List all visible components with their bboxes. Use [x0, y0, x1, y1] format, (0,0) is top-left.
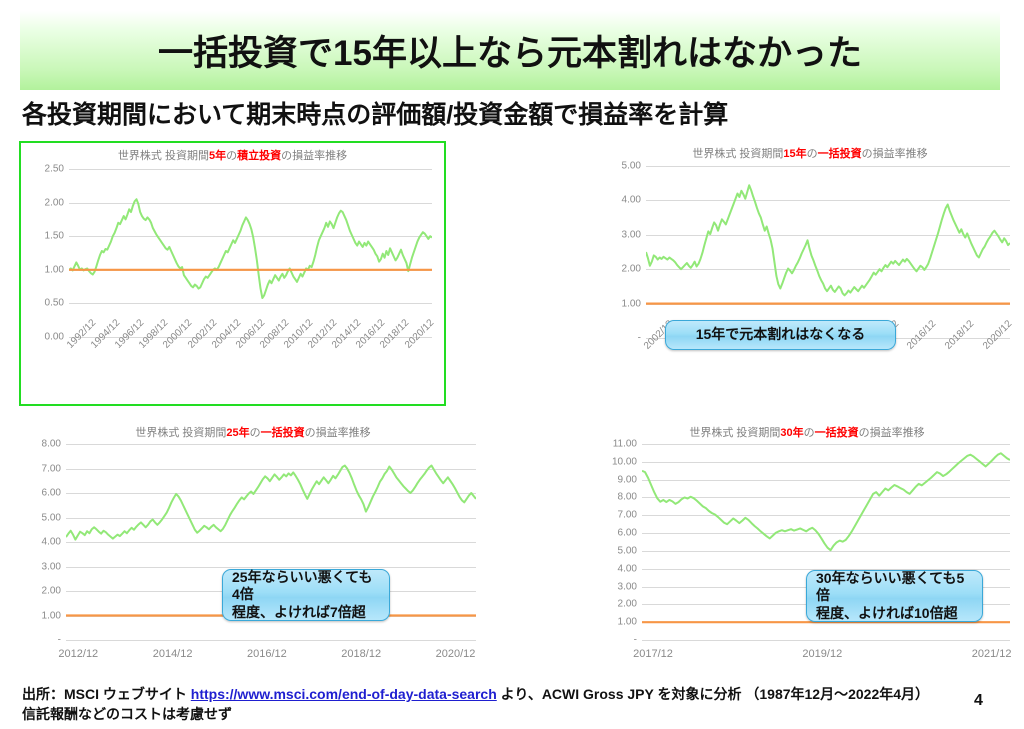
callout-30year: 30年ならいい悪くても5倍 程度、よければ10倍超 [806, 570, 983, 622]
chart4-ytick-label: 9.00 [618, 474, 637, 485]
chart4-xtick-label: 2017/12 [633, 648, 673, 660]
chart1-ytick-label: 2.50 [45, 164, 64, 175]
callout-15year: 15年で元本割れはなくなる [665, 320, 896, 350]
chart1-series-svg [69, 169, 432, 337]
chart4-ytick-label: 3.00 [618, 581, 637, 592]
chart2-series-svg [646, 166, 1010, 338]
chart4-ytick-label: 1.00 [618, 617, 637, 628]
chart1-ytick-label: 1.00 [45, 264, 64, 275]
page-title: 一括投資で15年以上なら元本割れはなかった [158, 25, 862, 76]
chart4-title-part-1: 30年 [780, 427, 803, 439]
chart3-title-part-2: の [250, 427, 261, 439]
chart1-title-part-4: の損益率推移 [281, 150, 347, 162]
chart2-data-line [646, 185, 1010, 295]
chart3-xtick-label: 2016/12 [247, 648, 287, 660]
chart4-ytick-label: 7.00 [618, 510, 637, 521]
slide-subtitle: 各投資期間において期末時点の評価額/投資金額で損益率を計算 [22, 95, 728, 131]
chart1-title: 世界株式 投資期間5年の積立投資の損益率推移 [21, 147, 444, 163]
chart4-ytick-label: 11.00 [613, 439, 637, 450]
chart4-ytick-label: 5.00 [618, 545, 637, 556]
callout-30year-text: 30年ならいい悪くても5倍 程度、よければ10倍超 [816, 570, 973, 623]
chart3-ytick-label: 8.00 [42, 439, 61, 450]
chart4-title-part-0: 世界株式 投資期間 [689, 427, 780, 439]
chart1-ytick-label: 0.50 [45, 298, 64, 309]
chart-card-30year-ikkatsu: 世界株式 投資期間30年の一括投資の損益率推移-1.002.003.004.00… [592, 422, 1022, 672]
chart2-title-part-2: の [807, 148, 818, 160]
chart4-xtick-label: 2021/12 [972, 648, 1012, 660]
chart2-xaxis-labels: 2002/122004/122006/122008/122010/122012/… [600, 342, 1020, 402]
chart1-title-part-1: 5年 [209, 150, 226, 162]
chart3-ytick-label: 2.00 [42, 586, 61, 597]
chart2-ytick-label: 1.00 [622, 298, 641, 309]
chart4-xtick-label: 2019/12 [802, 648, 842, 660]
chart3-data-line [66, 466, 476, 540]
chart4-data-line [642, 453, 1010, 550]
chart2-title-part-3: 一括投資 [818, 148, 862, 160]
chart4-ytick-label: 6.00 [618, 528, 637, 539]
slide-title-banner: 一括投資で15年以上なら元本割れはなかった [20, 11, 1000, 90]
chart-card-15year-ikkatsu: 世界株式 投資期間15年の一括投資の損益率推移-1.002.003.004.00… [600, 142, 1020, 397]
footer-line1-post: より、ACWI Gross JPY を対象に分析 （1987年12月～2022年… [497, 686, 929, 702]
footer-line-2: 信託報酬などのコストは考慮せず [22, 704, 962, 724]
chart3-ytick-label: 3.00 [42, 561, 61, 572]
chart2-title-part-1: 15年 [783, 148, 806, 160]
footer-line-1: 出所：MSCI ウェブサイト https://www.msci.com/end-… [22, 684, 962, 704]
chart1-ytick-label: 1.50 [45, 231, 64, 242]
chart1-title-part-3: 積立投資 [237, 150, 281, 162]
callout-30year-line2: 程度、よければ10倍超 [816, 605, 958, 621]
chart2-ytick-label: 4.00 [622, 195, 641, 206]
chart3-ytick-label: 4.00 [42, 537, 61, 548]
chart4-title-part-3: 一括投資 [815, 427, 859, 439]
chart4-ytick-label: 4.00 [618, 563, 637, 574]
callout-25year-text: 25年ならいい悪くても4倍 程度、よければ7倍超 [232, 569, 380, 622]
footer-line1-pre: 出所：MSCI ウェブサイト [22, 686, 191, 702]
callout-25year-line1: 25年ならいい悪くても4倍 [232, 569, 372, 603]
chart4-title: 世界株式 投資期間30年の一括投資の損益率推移 [592, 424, 1022, 440]
page-number: 4 [974, 692, 983, 710]
chart2-title: 世界株式 投資期間15年の一括投資の損益率推移 [600, 145, 1020, 161]
chart3-xtick-label: 2020/12 [436, 648, 476, 660]
chart3-title-part-0: 世界株式 投資期間 [135, 427, 226, 439]
callout-15year-text: 15年で元本割れはなくなる [696, 326, 866, 344]
footer-source-note: 出所：MSCI ウェブサイト https://www.msci.com/end-… [22, 684, 962, 725]
chart1-title-part-0: 世界株式 投資期間 [118, 150, 209, 162]
chart2-plot-area: -1.002.003.004.005.00 [600, 166, 1020, 338]
chart3-xtick-label: 2018/12 [341, 648, 381, 660]
chart1-plot-area: 0.000.501.001.502.002.50 [21, 169, 444, 337]
callout-30year-line1: 30年ならいい悪くても5倍 [816, 570, 964, 604]
chart4-title-part-4: の損益率推移 [859, 427, 925, 439]
chart3-title-part-4: の損益率推移 [305, 427, 371, 439]
chart2-ytick-label: 5.00 [622, 161, 641, 172]
chart2-title-part-4: の損益率推移 [862, 148, 928, 160]
chart3-ytick-label: 1.00 [42, 610, 61, 621]
chart4-title-part-2: の [804, 427, 815, 439]
chart4-gridline [642, 640, 1010, 641]
chart3-ytick-label: 6.00 [42, 488, 61, 499]
chart-card-25year-ikkatsu: 世界株式 投資期間25年の一括投資の損益率推移-1.002.003.004.00… [18, 422, 488, 672]
chart-card-5year-tsumitate: 世界株式 投資期間5年の積立投資の損益率推移0.000.501.001.502.… [19, 141, 446, 406]
chart1-xaxis-labels: 1992/121994/121996/121998/122000/122002/… [21, 341, 444, 401]
chart1-ytick-label: 2.00 [45, 197, 64, 208]
chart3-title-part-3: 一括投資 [261, 427, 305, 439]
chart3-title: 世界株式 投資期間25年の一括投資の損益率推移 [18, 424, 488, 440]
chart2-title-part-0: 世界株式 投資期間 [692, 148, 783, 160]
msci-source-link[interactable]: https://www.msci.com/end-of-day-data-sea… [191, 686, 497, 702]
chart3-ytick-label: 5.00 [42, 512, 61, 523]
chart3-ytick-label: 7.00 [42, 463, 61, 474]
chart3-title-part-1: 25年 [226, 427, 249, 439]
chart2-ytick-label: 2.00 [622, 264, 641, 275]
chart3-xtick-label: 2014/12 [153, 648, 193, 660]
chart1-data-line [69, 199, 432, 298]
callout-25year-line2: 程度、よければ7倍超 [232, 604, 366, 620]
callout-25year: 25年ならいい悪くても4倍 程度、よければ7倍超 [222, 569, 390, 621]
chart3-gridline [66, 640, 476, 641]
chart3-xtick-label: 2012/12 [58, 648, 98, 660]
chart4-ytick-label: 8.00 [618, 492, 637, 503]
chart2-ytick-label: 3.00 [622, 229, 641, 240]
chart1-title-part-2: の [226, 150, 237, 162]
chart4-ytick-label: 10.00 [612, 456, 637, 467]
chart4-ytick-label: 2.00 [618, 599, 637, 610]
